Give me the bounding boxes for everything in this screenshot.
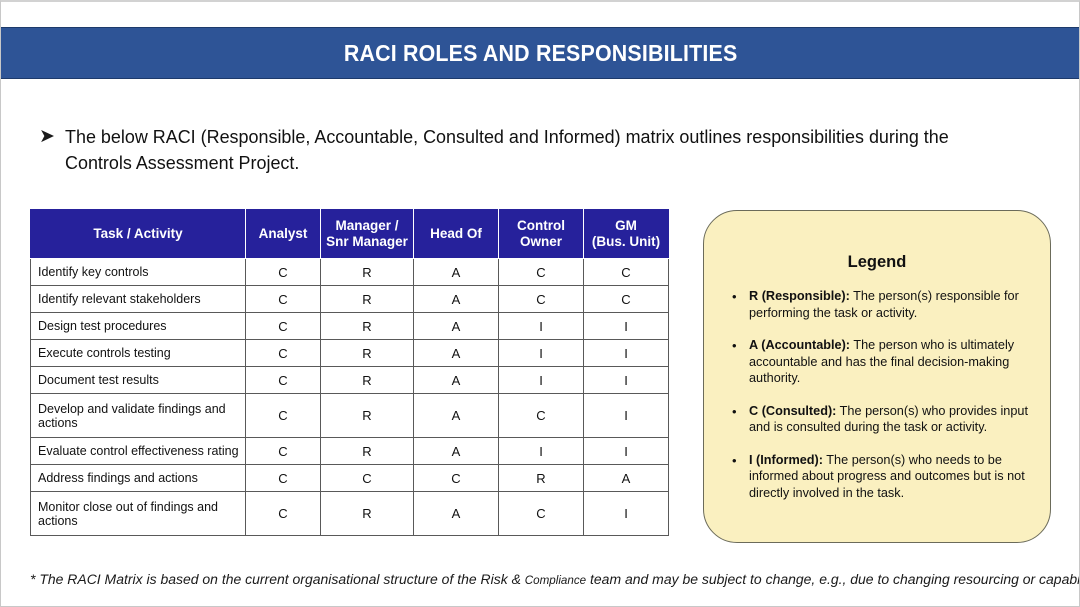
cell-raci-mark: R [499,465,584,492]
cell-task-name: Execute controls testing [31,340,246,367]
table-header-row: Task / Activity Analyst Manager / Snr Ma… [31,210,669,259]
column-header-analyst: Analyst [246,210,321,259]
cell-raci-mark: C [246,340,321,367]
column-header-control-owner: Control Owner [499,210,584,259]
table-row: Execute controls testingCRAII [31,340,669,367]
bullet-icon: • [732,337,749,354]
column-header-head-of: Head Of [414,210,499,259]
cell-raci-mark: A [414,259,499,286]
legend-title: Legend [720,253,1034,272]
column-header-manager: Manager / Snr Manager [321,210,414,259]
cell-raci-mark: C [246,286,321,313]
cell-raci-mark: A [584,465,669,492]
cell-raci-mark: C [246,367,321,394]
cell-raci-mark: I [499,367,584,394]
cell-raci-mark: A [414,492,499,536]
cell-raci-mark: R [321,367,414,394]
bullet-icon: • [732,288,749,305]
footnote-part-2: team and may be subject to change, e.g.,… [586,572,1080,588]
legend-item-text: C (Consulted): The person(s) who provide… [749,403,1034,436]
cell-raci-mark: C [246,313,321,340]
intro-text: The below RACI (Responsible, Accountable… [65,124,971,176]
column-header-task: Task / Activity [31,210,246,259]
cell-raci-mark: C [246,465,321,492]
cell-task-name: Evaluate control effectiveness rating [31,438,246,465]
footnote: * The RACI Matrix is based on the curren… [30,572,1035,588]
legend-item-term: A (Accountable): [749,338,850,352]
table-row: Identify relevant stakeholdersCRACC [31,286,669,313]
cell-raci-mark: C [246,438,321,465]
cell-raci-mark: A [414,340,499,367]
cell-raci-mark: I [499,340,584,367]
cell-raci-mark: A [414,313,499,340]
cell-raci-mark: C [246,394,321,438]
cell-raci-mark: R [321,286,414,313]
legend-item-term: C (Consulted): [749,404,836,418]
cell-raci-mark: C [321,465,414,492]
cell-raci-mark: A [414,286,499,313]
legend-item-term: I (Informed): [749,453,823,467]
bullet-icon: • [732,403,749,420]
cell-raci-mark: I [499,313,584,340]
page-title: RACI ROLES AND RESPONSIBILITIES [344,40,738,67]
cell-raci-mark: R [321,259,414,286]
cell-raci-mark: C [246,492,321,536]
cell-raci-mark: C [246,259,321,286]
footnote-compliance-word: Compliance [525,573,586,587]
cell-raci-mark: A [414,367,499,394]
cell-raci-mark: R [321,438,414,465]
arrowhead-bullet-icon: ➤ [39,124,65,150]
table-row: Monitor close out of findings and action… [31,492,669,536]
cell-raci-mark: I [584,313,669,340]
cell-raci-mark: C [499,286,584,313]
cell-task-name: Document test results [31,367,246,394]
legend-item: •C (Consulted): The person(s) who provid… [720,403,1034,436]
legend-callout: Legend •R (Responsible): The person(s) r… [703,210,1051,543]
legend-item: •I (Informed): The person(s) who needs t… [720,452,1034,502]
cell-task-name: Identify key controls [31,259,246,286]
cell-raci-mark: C [584,259,669,286]
cell-raci-mark: I [584,340,669,367]
cell-task-name: Identify relevant stakeholders [31,286,246,313]
cell-raci-mark: I [584,438,669,465]
cell-raci-mark: C [499,259,584,286]
cell-raci-mark: I [584,394,669,438]
cell-raci-mark: R [321,340,414,367]
legend-item-text: I (Informed): The person(s) who needs to… [749,452,1034,502]
table-header: Task / Activity Analyst Manager / Snr Ma… [31,210,669,259]
slide-title-band: RACI ROLES AND RESPONSIBILITIES [1,27,1080,79]
cell-raci-mark: R [321,313,414,340]
cell-raci-mark: C [414,465,499,492]
table-row: Address findings and actionsCCCRA [31,465,669,492]
cell-raci-mark: C [584,286,669,313]
table-row: Evaluate control effectiveness ratingCRA… [31,438,669,465]
table-row: Develop and validate findings and action… [31,394,669,438]
legend-item: •A (Accountable): The person who is ulti… [720,337,1034,387]
cell-raci-mark: I [584,492,669,536]
slide-canvas: RACI ROLES AND RESPONSIBILITIES ➤ The be… [0,0,1080,607]
cell-raci-mark: R [321,492,414,536]
cell-raci-mark: C [499,394,584,438]
cell-task-name: Design test procedures [31,313,246,340]
raci-matrix-table: Task / Activity Analyst Manager / Snr Ma… [30,209,669,536]
cell-raci-mark: A [414,394,499,438]
cell-task-name: Develop and validate findings and action… [31,394,246,438]
table-body: Identify key controlsCRACCIdentify relev… [31,259,669,536]
legend-item-list: •R (Responsible): The person(s) responsi… [720,288,1034,501]
cell-raci-mark: R [321,394,414,438]
legend-item-text: A (Accountable): The person who is ultim… [749,337,1034,387]
table-row: Design test proceduresCRAII [31,313,669,340]
column-header-gm: GM (Bus. Unit) [584,210,669,259]
cell-raci-mark: I [584,367,669,394]
cell-raci-mark: I [499,438,584,465]
cell-task-name: Monitor close out of findings and action… [31,492,246,536]
footnote-part-1: * The RACI Matrix is based on the curren… [30,572,525,588]
legend-item-term: R (Responsible): [749,289,850,303]
table-row: Document test resultsCRAII [31,367,669,394]
table-row: Identify key controlsCRACC [31,259,669,286]
cell-raci-mark: C [499,492,584,536]
bullet-icon: • [732,452,749,469]
legend-item-text: R (Responsible): The person(s) responsib… [749,288,1034,321]
legend-item: •R (Responsible): The person(s) responsi… [720,288,1034,321]
intro-bullet: ➤ The below RACI (Responsible, Accountab… [39,124,999,176]
cell-raci-mark: A [414,438,499,465]
cell-task-name: Address findings and actions [31,465,246,492]
